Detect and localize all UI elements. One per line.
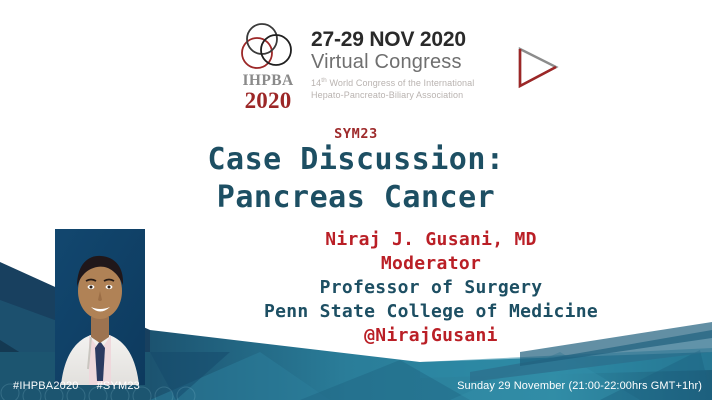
speaker-position: Professor of Surgery <box>150 276 712 300</box>
speaker-details: Niraj J. Gusani, MD Moderator Professor … <box>150 228 712 348</box>
logo-congress-label: Virtual Congress <box>311 51 474 73</box>
logo-year: 2020 <box>231 89 305 113</box>
logo-subtitle: 14th World Congress of the International… <box>311 77 474 101</box>
hashtag-session: #SYM23 <box>97 380 140 392</box>
logo-subtitle-line-1: 14th World Congress of the International <box>311 77 474 89</box>
footer-hashtags: #IHPBA2020 #SYM23 <box>13 380 140 392</box>
hashtag-event: #IHPBA2020 <box>13 380 79 392</box>
logo-acronym: IHPBA <box>231 73 305 89</box>
title-line-1: Case Discussion: <box>0 141 712 179</box>
three-overlapping-circles-icon <box>231 22 305 72</box>
speaker-photo <box>55 229 145 385</box>
speaker-portrait-illustration <box>55 229 145 385</box>
speaker-institution: Penn State College of Medicine <box>150 300 712 324</box>
play-triangle-icon <box>517 46 559 90</box>
footer-schedule: Sunday 29 November (21:00-22:00hrs GMT+1… <box>457 380 702 392</box>
speaker-handle: @NirajGusani <box>150 324 712 348</box>
presentation-slide: IHPBA 2020 27-29 NOV 2020 Virtual Congre… <box>0 0 712 400</box>
session-code: SYM23 <box>0 126 712 142</box>
logo-subtitle-rest: World Congress of the International <box>327 78 475 88</box>
ihpba-congress-logo: IHPBA 2020 27-29 NOV 2020 Virtual Congre… <box>231 22 481 118</box>
logo-subtitle-line-2: Hepato-Pancreato-Biliary Association <box>311 89 474 101</box>
logo-mark: IHPBA 2020 <box>231 22 305 113</box>
logo-text-block: 27-29 NOV 2020 Virtual Congress 14th Wor… <box>305 22 474 101</box>
speaker-role: Moderator <box>150 252 712 276</box>
logo-subtitle-ordinal-number: 14 <box>311 78 321 88</box>
speaker-name: Niraj J. Gusani, MD <box>150 228 712 252</box>
title-line-2: Pancreas Cancer <box>0 179 712 217</box>
logo-dates: 27-29 NOV 2020 <box>311 29 474 50</box>
page-title: Case Discussion: Pancreas Cancer <box>0 141 712 218</box>
